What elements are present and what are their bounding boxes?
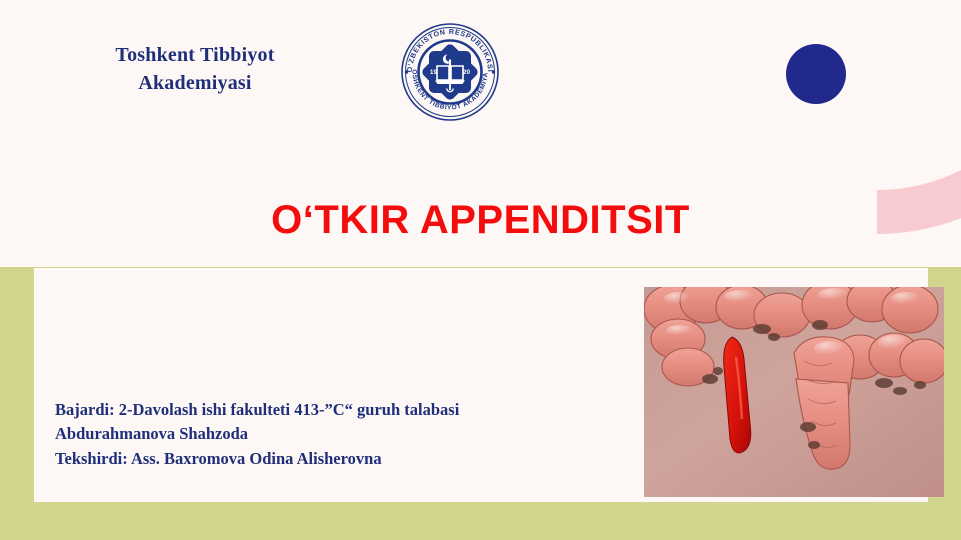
presentation-slide: Toshkent Tibbiyot Akademiyasi O‘ZBEKISTO… xyxy=(0,0,961,540)
slide-main-title: O‘TKIR APPENDITSIT xyxy=(0,198,961,243)
svg-text:19: 19 xyxy=(430,69,438,76)
academy-emblem: O‘ZBEKISTON RESPUBLIKASI TOSHKENT TIBBIY… xyxy=(400,22,500,122)
decorative-navy-circle xyxy=(786,44,846,104)
credits-line-author-name: Abdurahmanova Shahzoda xyxy=(55,422,615,446)
svg-text:20: 20 xyxy=(463,69,471,76)
institution-title: Toshkent Tibbiyot Akademiyasi xyxy=(60,42,330,97)
credits-line-author-group: Bajardi: 2-Davolash ishi fakulteti 413-”… xyxy=(55,398,615,422)
institution-title-line1: Toshkent Tibbiyot xyxy=(60,42,330,70)
inflamed-appendix-anatomy-photo xyxy=(644,287,944,497)
credits-block: Bajardi: 2-Davolash ishi fakulteti 413-”… xyxy=(55,398,615,471)
institution-title-line2: Akademiyasi xyxy=(60,70,330,98)
credits-line-supervisor: Tekshirdi: Ass. Baxromova Odina Alishero… xyxy=(55,447,615,471)
